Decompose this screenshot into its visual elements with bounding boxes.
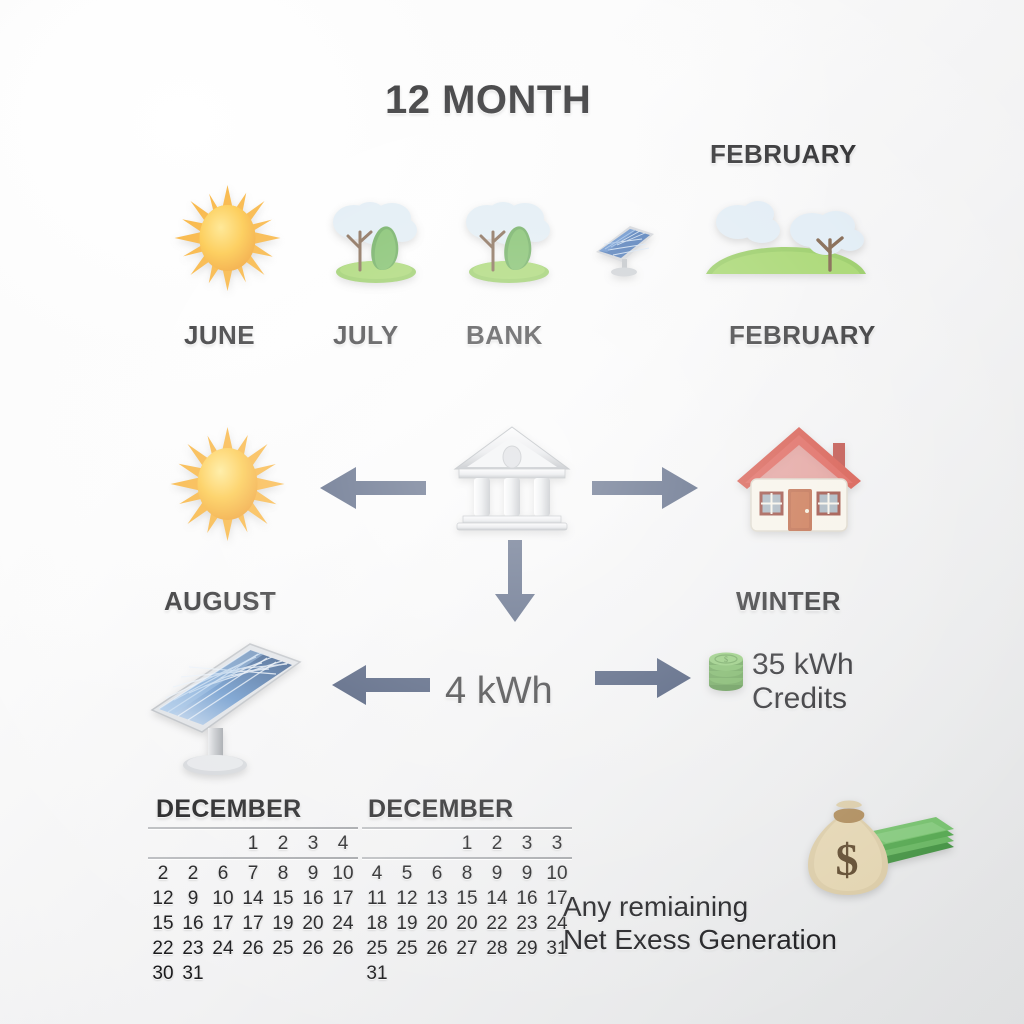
- calendar-day: 17: [208, 911, 238, 936]
- calendar-day: 16: [178, 911, 208, 936]
- calendar-day: 1: [452, 831, 482, 856]
- footnote-line-2: Net Exess Generation: [563, 923, 837, 956]
- calendar-day: 26: [238, 936, 268, 961]
- row2-arrow-right: [592, 464, 700, 512]
- calendar-day: 15: [148, 911, 178, 936]
- calendar-day: 23: [512, 911, 542, 936]
- calendar-day: 1: [238, 831, 268, 856]
- row2-label-august: AUGUST: [164, 586, 276, 617]
- page-title: 12 MONTH: [385, 78, 591, 123]
- calendar-1-body: 2267891012910141516171516171719202422232…: [148, 861, 358, 986]
- credits-line-2: Credits: [752, 682, 854, 716]
- calendar-1-month: DECEMBER: [148, 795, 358, 824]
- row1-label-june: JUNE: [184, 320, 255, 351]
- infographic-canvas: 12 MONTH FEBRUARY: [0, 0, 1024, 1024]
- calendar-day: 4: [362, 861, 392, 886]
- calendar-day: 23: [178, 936, 208, 961]
- calendar-day: 14: [238, 886, 268, 911]
- arrow-left-icon: [330, 663, 430, 707]
- row3-credits-text: 35 kWh Credits: [752, 648, 854, 715]
- row2-arrow-left: [318, 464, 426, 512]
- calendar-day: 3: [512, 831, 542, 856]
- calendar-day: 30: [148, 961, 178, 986]
- calendar-day: 19: [268, 911, 298, 936]
- row1-item-february: [700, 190, 872, 285]
- calendar-day: 4: [328, 831, 358, 856]
- row1-item-solar-panel: [592, 218, 658, 280]
- footnote-money-bag: $: [786, 795, 956, 900]
- bank-building-icon: [449, 421, 575, 533]
- calendar-2-rule-top: [362, 827, 572, 829]
- row2-item-august: [160, 425, 295, 543]
- calendar-2-month: DECEMBER: [362, 795, 572, 824]
- calendar-day: 6: [208, 861, 238, 886]
- calendar-day: 9: [512, 861, 542, 886]
- sun-icon: [160, 425, 295, 543]
- calendar-day: 16: [512, 886, 542, 911]
- credits-line-1: 35 kWh: [752, 648, 854, 682]
- calendar-day: 11: [362, 886, 392, 911]
- row1-label-july: JULY: [333, 320, 399, 351]
- arrow-left-icon: [318, 464, 426, 512]
- calendar-day: 10: [542, 861, 572, 886]
- calendar-2-header: ...1233: [362, 831, 572, 856]
- row1-item-june: [165, 183, 290, 293]
- calendar-day: 8: [268, 861, 298, 886]
- calendar-day: 15: [452, 886, 482, 911]
- calendar-day: 14: [482, 886, 512, 911]
- calendar-day: 28: [482, 936, 512, 961]
- calendar-2: DECEMBER ...1233 45689910111213151416171…: [362, 795, 572, 986]
- calendar-day: 20: [422, 911, 452, 936]
- calendar-day: 17: [328, 886, 358, 911]
- solar-panel-icon: [148, 632, 304, 777]
- calendar-day: 9: [178, 886, 208, 911]
- calendar-day: 31: [178, 961, 208, 986]
- calendar-day: 12: [392, 886, 422, 911]
- calendar-day: 6: [422, 861, 452, 886]
- arrow-right-icon: [592, 464, 700, 512]
- row3-arrow-right: [595, 656, 693, 700]
- calendar-day: 29: [512, 936, 542, 961]
- calendar-1-rule-mid: [148, 857, 358, 859]
- calendar-day: 3: [298, 831, 328, 856]
- calendar-day: 22: [148, 936, 178, 961]
- row2-label-winter: WINTER: [736, 586, 841, 617]
- calendar-day: 13: [422, 886, 452, 911]
- arrow-right-icon: [595, 656, 693, 700]
- tree-cloud-icon: [330, 196, 422, 284]
- calendar-day: 17: [238, 911, 268, 936]
- calendar-day: 15: [268, 886, 298, 911]
- calendar-day: 25: [392, 936, 422, 961]
- arrow-down-icon: [493, 540, 537, 624]
- calendar-1-rule-top: [148, 827, 358, 829]
- calendar-day: 5: [392, 861, 422, 886]
- calendar-day: 10: [208, 886, 238, 911]
- tree-hill-icon: [700, 190, 872, 285]
- calendar-day: 2: [148, 861, 178, 886]
- house-icon: [733, 423, 865, 535]
- calendar-2-rule-mid: [362, 857, 572, 859]
- calendar-2-body: 4568991011121315141617181920202223242525…: [362, 861, 572, 986]
- tree-cloud-icon: [463, 196, 555, 284]
- calendar-day: 19: [392, 911, 422, 936]
- row2-item-winter: [733, 423, 865, 535]
- calendar-day: 27: [452, 936, 482, 961]
- calendar-day: 20: [452, 911, 482, 936]
- calendar-day: 10: [328, 861, 358, 886]
- calendar-day: 31: [362, 961, 392, 986]
- february-top-label: FEBRUARY: [710, 139, 857, 170]
- row1-label-february: FEBRUARY: [729, 320, 876, 351]
- calendar-day: 20: [298, 911, 328, 936]
- sun-icon: [165, 183, 290, 293]
- calendar-day: 26: [422, 936, 452, 961]
- calendar-day: 24: [208, 936, 238, 961]
- calendar-day: 25: [362, 936, 392, 961]
- svg-text:$: $: [724, 655, 728, 664]
- calendar-day: 9: [482, 861, 512, 886]
- row2-item-bank-building: [449, 421, 575, 533]
- calendar-day: 8: [452, 861, 482, 886]
- calendar-day: 3: [542, 831, 572, 856]
- calendar-day: 25: [268, 936, 298, 961]
- calendar-day: 2: [482, 831, 512, 856]
- row1-item-bank: [463, 196, 555, 284]
- calendar-day: 9: [298, 861, 328, 886]
- row3-item-credits-icon: $: [702, 646, 750, 694]
- row1-label-bank: BANK: [466, 320, 543, 351]
- footnote-line-1: Any remiaining: [563, 890, 837, 923]
- solar-panel-icon: [592, 218, 658, 280]
- row3-center-label: 4 kWh: [445, 670, 553, 713]
- svg-text:$: $: [836, 834, 859, 885]
- calendar-day: 12: [148, 886, 178, 911]
- row1-item-july: [330, 196, 422, 284]
- money-bag-icon: $: [786, 795, 956, 900]
- money-stack-icon: $: [702, 646, 750, 694]
- calendar-day: 7: [238, 861, 268, 886]
- calendar-day: 24: [328, 911, 358, 936]
- calendar-day: 26: [298, 936, 328, 961]
- calendar-1: DECEMBER ...1234 22678910129101415161715…: [148, 795, 358, 986]
- calendar-day: 26: [328, 936, 358, 961]
- calendar-day: 2: [178, 861, 208, 886]
- footnote-text: Any remiaining Net Exess Generation: [563, 890, 837, 956]
- calendar-day: 16: [298, 886, 328, 911]
- calendar-1-header: ...1234: [148, 831, 358, 856]
- row3-arrow-left: [330, 663, 430, 707]
- calendar-day: 22: [482, 911, 512, 936]
- row2-arrow-down: [493, 540, 537, 624]
- calendar-day: 18: [362, 911, 392, 936]
- calendar-day: 2: [268, 831, 298, 856]
- row3-item-solar-panel: [148, 632, 304, 777]
